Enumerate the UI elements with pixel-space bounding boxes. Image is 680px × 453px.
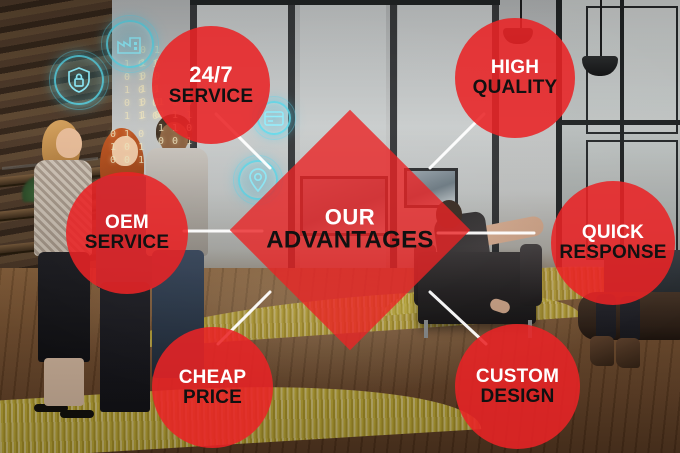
node-line-2: SERVICE <box>85 233 169 253</box>
node-line-2: RESPONSE <box>559 243 666 263</box>
node-cheap-price[interactable]: CHEAP PRICE <box>152 327 273 448</box>
center-line-2: ADVANTAGES <box>237 229 463 253</box>
node-custom-design[interactable]: CUSTOM DESIGN <box>455 324 580 449</box>
node-service-247[interactable]: 24/7 SERVICE <box>152 26 270 144</box>
node-line-1: 24/7 <box>189 64 233 87</box>
connector-to-custom-design <box>430 292 486 344</box>
center-label: OUR ADVANTAGES <box>237 207 463 254</box>
node-line-1: CUSTOM <box>476 367 559 387</box>
node-line-1: OEM <box>105 213 149 233</box>
center-diamond[interactable]: OUR ADVANTAGES <box>265 145 435 315</box>
node-line-1: HIGH <box>491 58 539 78</box>
infographic-canvas: 1 0 1 0 1 1 1 0 0 0 1 0 1 1 0 0 1 1 0 0 … <box>0 0 680 453</box>
node-line-1: CHEAP <box>179 368 247 388</box>
node-line-2: DESIGN <box>480 387 554 407</box>
node-line-2: PRICE <box>183 388 242 408</box>
center-line-1: OUR <box>237 207 463 229</box>
node-line-1: QUICK <box>582 223 644 243</box>
node-oem-service[interactable]: OEM SERVICE <box>66 172 188 294</box>
node-line-2: QUALITY <box>473 78 558 98</box>
node-line-2: SERVICE <box>169 87 253 107</box>
node-quick-response[interactable]: QUICK RESPONSE <box>551 181 675 305</box>
node-high-quality[interactable]: HIGH QUALITY <box>455 18 575 138</box>
